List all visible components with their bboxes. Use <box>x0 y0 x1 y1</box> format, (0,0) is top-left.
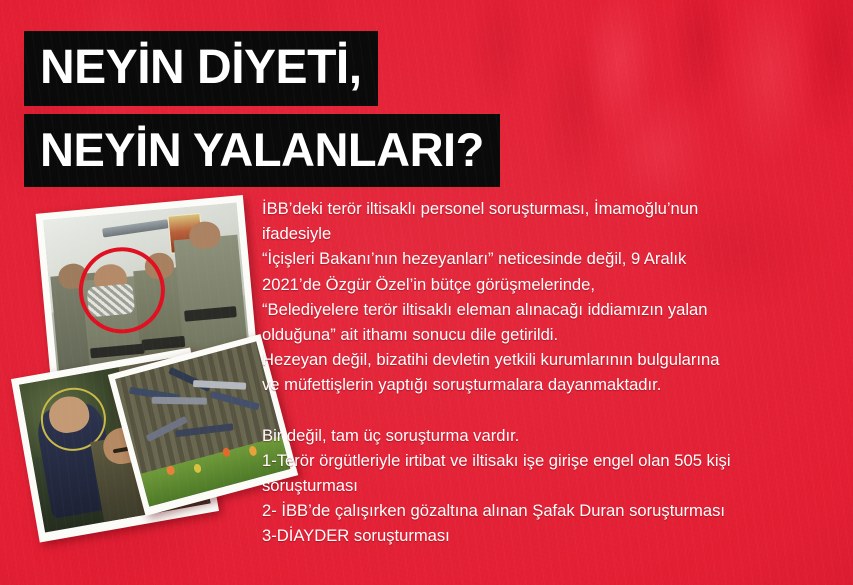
headline-line-1: NEYİN DİYETİ, <box>24 31 378 106</box>
p2-line-1: Bir değil, tam üç soruşturma vardır. <box>262 423 842 448</box>
p1-line-2: ifadesiyle <box>262 221 842 246</box>
photo-collage <box>0 180 260 540</box>
p2-line-3: soruşturması <box>262 473 842 498</box>
p1-line-3: “İçişleri Bakanı’nın hezeyanları” netice… <box>262 246 842 271</box>
headline-line-2: NEYİN YALANLARI? <box>24 114 500 187</box>
p1-line-4: 2021’de Özgür Özel’in bütçe görüşmelerin… <box>262 272 842 297</box>
poster-canvas: NEYİN DİYETİ, NEYİN YALANLARI? <box>0 0 853 585</box>
p1-line-5: “Belediyelere terör iltisaklı eleman alı… <box>262 297 842 322</box>
p1-line-1: İBB’deki terör iltisaklı personel soruşt… <box>262 196 842 221</box>
p2-line-2: 1-Terör örgütleriyle irtibat ve iltisakı… <box>262 448 842 473</box>
headline: NEYİN DİYETİ, NEYİN YALANLARI? <box>24 31 500 187</box>
p1-line-7: Hezeyan değil, bizatihi devletin yetkili… <box>262 347 842 372</box>
p1-line-8: ve müfettişlerin yaptığı soruşturmalara … <box>262 372 842 397</box>
paragraph-2: Bir değil, tam üç soruşturma vardır. 1-T… <box>262 423 842 549</box>
p2-line-5: 3-DİAYDER soruşturması <box>262 523 842 548</box>
p2-line-4: 2- İBB’de çalışırken gözaltına alınan Şa… <box>262 498 842 523</box>
body-copy: İBB’deki terör iltisaklı personel soruşt… <box>262 196 842 549</box>
paragraph-gap <box>262 398 842 423</box>
item-2 <box>152 397 208 405</box>
p1-line-6: olduğuna” ait ithamı sonucu dile getiril… <box>262 322 842 347</box>
paragraph-1: İBB’deki terör iltisaklı personel soruşt… <box>262 196 842 398</box>
